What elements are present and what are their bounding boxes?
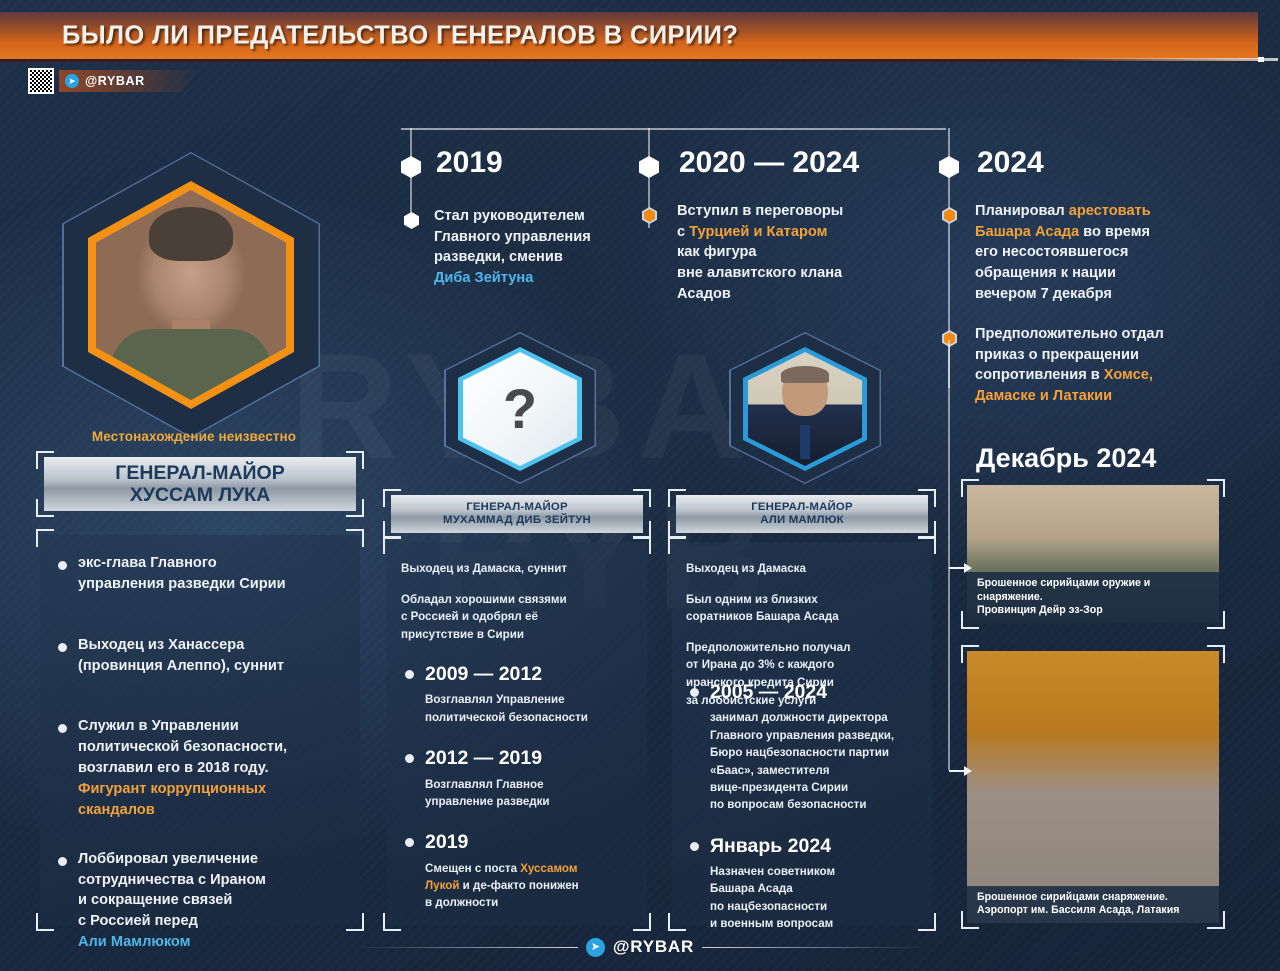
text-run: экс-глава Главного <box>78 555 217 571</box>
timeline-year: 2024 <box>977 146 1044 180</box>
text-line: Диба Зейтуна <box>434 268 664 289</box>
text-line: экс-глава Главного <box>78 553 344 574</box>
text-run: как фигура <box>677 244 757 260</box>
text-run: «Баас», заместителя <box>710 764 829 777</box>
caption-line-1: Брошенное сирийцами оружие и снаряжение. <box>977 577 1213 603</box>
nameplate-luka: ГЕНЕРАЛ-МАЙОРХУССАМ ЛУКА <box>44 457 356 511</box>
text-run: Дамаске и Латакии <box>975 388 1112 404</box>
text-run: Вступил в переговоры <box>677 203 843 219</box>
text-run: Возглавлял Управление <box>425 693 565 706</box>
text-run: с <box>677 224 689 240</box>
text-run: Смещен с поста <box>425 862 520 875</box>
text-line: с Турцией и Катаром <box>677 222 907 243</box>
caption-line-1: Брошенное сирийцами снаряжение. <box>977 891 1213 904</box>
text-line: и военным вопросам <box>710 915 924 932</box>
gallery-caption: Брошенное сирийцами оружие и снаряжение.… <box>967 572 1219 623</box>
event-item: 2019 Смещен с поста ХуссамомЛукой и де-ф… <box>397 830 639 912</box>
text-line: по вопросам безопасности <box>710 796 924 813</box>
text-run: приказ о прекращении <box>975 347 1139 363</box>
text-line: с Россией перед <box>78 911 344 932</box>
event-detail: Возглавлял Главноеуправление разведки <box>425 776 639 811</box>
text-line: и сокращение связей <box>78 890 344 911</box>
text-run: в должности <box>425 896 498 909</box>
timeline-entry-text: Стал руководителемГлавного управленияраз… <box>434 206 664 289</box>
text-run: Башара Асада <box>710 882 793 895</box>
text-line: Смещен с поста Хуссамом <box>425 860 639 877</box>
divider-left <box>356 947 578 948</box>
text-run: по вопросам безопасности <box>710 798 866 811</box>
list-item: Выходец из Ханассера(провинция Алеппо), … <box>50 635 344 677</box>
text-run: Лукой <box>425 879 459 892</box>
text-run: Был одним из близких <box>686 593 818 606</box>
text-line: Планировал арестовать <box>975 201 1205 222</box>
text-line: Башара Асада во время <box>975 222 1205 243</box>
text-line: Выходец из Дамаска <box>686 560 918 578</box>
timeline-entry-text: Вступил в переговорыс Турцией и Катаромк… <box>677 201 907 305</box>
text-line: политической безопасности, <box>78 737 344 758</box>
text-line: разведки, сменив <box>434 247 664 268</box>
text-line: Предположительно получал <box>686 639 918 657</box>
text-line: Предположительно отдал <box>975 324 1205 345</box>
person-rank-name: ГЕНЕРАЛ-МАЙОРАЛИ МАМЛЮК <box>751 501 853 527</box>
gallery-title: Декабрь 2024 <box>976 443 1156 474</box>
text-run: Диба Зейтуна <box>434 270 533 286</box>
text-line: занимал должности директора <box>710 709 924 726</box>
text-run: Башара Асада <box>975 224 1079 240</box>
footer-brand: @RYBAR <box>613 937 694 957</box>
text-line: Назначен советником <box>710 863 924 880</box>
event-detail: занимал должности директораГлавного упра… <box>710 709 924 813</box>
text-line: Дамаске и Латакии <box>975 386 1205 407</box>
text-run: Служил в Управлении <box>78 718 239 734</box>
text-line: сотрудничества с Ираном <box>78 870 344 891</box>
event-item: 2005 — 2024 занимал должности директораГ… <box>682 680 924 814</box>
text-line: (провинция Алеппо), суннит <box>78 656 344 677</box>
text-run: Турцией и Катаром <box>689 224 827 240</box>
connector-arrow-1 <box>949 766 973 776</box>
text-run: Выходец из Дамаска <box>686 562 806 575</box>
text-run: Обладал хорошими связями <box>401 593 567 606</box>
nameplate-mamluk: ГЕНЕРАЛ-МАЙОРАЛИ МАМЛЮК <box>676 495 928 533</box>
text-run: политической безопасности <box>425 711 588 724</box>
brand-label-container: ➤ @RYBAR <box>59 70 199 92</box>
text-run: Хомсе, <box>1104 367 1153 383</box>
person-rank-name: ГЕНЕРАЛ-МАЙОРХУССАМ ЛУКА <box>115 462 284 506</box>
text-line: обращения к нации <box>975 263 1205 284</box>
event-item: 2012 — 2019 Возглавлял Главноеуправление… <box>397 746 639 810</box>
qr-code-icon <box>28 68 54 94</box>
text-line: Главного управления <box>434 227 664 248</box>
text-line: Обладал хорошими связями <box>401 591 633 609</box>
text-run: Предположительно отдал <box>975 326 1164 342</box>
text-run: вне алавитского клана <box>677 265 842 281</box>
timeline-year: 2019 <box>436 146 503 180</box>
list-item: экс-глава Главногоуправления разведки Си… <box>50 553 344 595</box>
text-line: Башара Асада <box>710 880 924 897</box>
text-line: Лукой и де-факто понижен <box>425 877 639 894</box>
text-line: в должности <box>425 894 639 911</box>
text-line: Фигурант коррупционных <box>78 779 344 800</box>
text-line: Вступил в переговоры <box>677 201 907 222</box>
bullet-list: экс-глава Главногоуправления разведки Си… <box>50 553 344 953</box>
event-heading: 2005 — 2024 <box>682 680 924 704</box>
text-run: и сокращение связей <box>78 892 232 908</box>
text-line: его несостоявшегося <box>975 242 1205 263</box>
text-run: и военным вопросам <box>710 917 833 930</box>
event-list: 2009 — 2012 Возглавлял Управлениеполитич… <box>397 662 639 912</box>
timeline-entry-text: Планировал арестоватьБашара Асада во вре… <box>975 201 1205 305</box>
text-run: сотрудничества с Ираном <box>78 872 266 888</box>
text-line: с Россией и одобрял её <box>401 608 633 626</box>
nameplate-zeitun: ГЕНЕРАЛ-МАЙОРМУХАММАД ДИБ ЗЕЙТУН <box>391 495 643 533</box>
text-line: соратников Башара Асада <box>686 608 918 626</box>
event-heading: 2012 — 2019 <box>397 746 639 770</box>
telegram-icon: ➤ <box>586 938 605 957</box>
event-item: 2009 — 2012 Возглавлял Управлениеполитич… <box>397 662 639 726</box>
text-line: Выходец из Ханассера <box>78 635 344 656</box>
text-run: управления разведки Сирии <box>78 576 286 592</box>
event-detail: Возглавлял Управлениеполитической безопа… <box>425 691 639 726</box>
text-run: политической безопасности, <box>78 739 287 755</box>
caption-line-2: Провинция Дейр эз-Зор <box>977 604 1213 617</box>
text-run: Планировал <box>975 203 1069 219</box>
list-item: Служил в Управленииполитической безопасн… <box>50 716 344 820</box>
text-line: Асадов <box>677 284 907 305</box>
text-line: Выходец из Дамаска, суннит <box>401 560 633 578</box>
intro-text: Выходец из Дамаска, суннитОбладал хороши… <box>401 560 633 643</box>
text-line: Возглавлял Управление <box>425 691 639 708</box>
text-run: и де-факто понижен <box>459 879 578 892</box>
text-run: Хуссамом <box>520 862 577 875</box>
text-run: (провинция Алеппо), суннит <box>78 658 284 674</box>
text-line: Стал руководителем <box>434 206 664 227</box>
text-run: от Ирана до 3% с каждого <box>686 658 834 671</box>
text-line: «Баас», заместителя <box>710 762 924 779</box>
text-run: Стал руководителем <box>434 208 585 224</box>
text-run: Назначен советником <box>710 865 835 878</box>
text-run: Выходец из Дамаска, суннит <box>401 562 567 575</box>
text-run: вечером 7 декабря <box>975 286 1112 302</box>
intro-paragraph: Был одним из близкихсоратников Башара Ас… <box>686 591 918 626</box>
text-run: Бюро нацбезопасности партии <box>710 746 889 759</box>
gallery-rail <box>948 340 950 770</box>
brand-name: @RYBAR <box>85 74 145 88</box>
text-run: скандалов <box>78 802 155 818</box>
text-run: Возглавлял Главное <box>425 778 544 791</box>
text-run: разведки, сменив <box>434 249 563 265</box>
timeline-rail <box>401 128 946 130</box>
text-line: возглавил его в 2018 году. <box>78 758 344 779</box>
text-line: Бюро нацбезопасности партии <box>710 744 924 761</box>
text-line: приказ о прекращении <box>975 345 1205 366</box>
event-item: Январь 2024 Назначен советникомБашара Ас… <box>682 834 924 933</box>
event-list: 2005 — 2024 занимал должности директораГ… <box>682 680 924 933</box>
text-run: по нацбезопасности <box>710 900 827 913</box>
text-run: управление разведки <box>425 795 550 808</box>
text-line: скандалов <box>78 800 344 821</box>
text-run: с Россией и одобрял её <box>401 610 538 623</box>
text-run: Асадов <box>677 286 731 302</box>
event-heading: 2019 <box>397 830 639 854</box>
text-run: Фигурант коррупционных <box>78 781 266 797</box>
text-run: занимал должности директора <box>710 711 888 724</box>
portrait-hussam-luka <box>62 152 320 438</box>
text-line: Главного управления разведки, <box>710 727 924 744</box>
text-line: управление разведки <box>425 793 639 810</box>
text-run: возглавил его в 2018 году. <box>78 760 269 776</box>
portrait-ali-mamluk <box>729 332 881 484</box>
text-line: Возглавлял Главное <box>425 776 639 793</box>
text-line: по нацбезопасности <box>710 898 924 915</box>
gallery-caption: Брошенное сирийцами снаряжение. Аэропорт… <box>967 886 1219 923</box>
connector-arrow-0 <box>949 563 973 573</box>
text-run: Выходец из Ханассера <box>78 637 244 653</box>
gallery-image-0[interactable]: Брошенное сирийцами оружие и снаряжение.… <box>967 485 1219 623</box>
telegram-icon: ➤ <box>65 74 79 88</box>
event-heading: Январь 2024 <box>682 834 924 858</box>
text-line: управления разведки Сирии <box>78 574 344 595</box>
footer: ➤ @RYBAR <box>0 937 1280 957</box>
header-rule <box>1038 58 1278 61</box>
intro-paragraph: Выходец из Дамаска <box>686 560 918 578</box>
text-run: во время <box>1079 224 1150 240</box>
caption-line-2: Аэропорт им. Бассиля Асада, Латакия <box>977 904 1213 917</box>
text-line: политической безопасности <box>425 709 639 726</box>
event-heading: 2009 — 2012 <box>397 662 639 686</box>
event-detail: Назначен советникомБашара Асадапо нацбез… <box>710 863 924 933</box>
text-line: от Ирана до 3% с каждого <box>686 656 918 674</box>
text-run: присутствие в Сирии <box>401 628 524 641</box>
text-line: сопротивления в Хомсе, <box>975 365 1205 386</box>
text-line: Был одним из близких <box>686 591 918 609</box>
timeline-year: 2020 — 2024 <box>679 146 859 180</box>
timeline-entry-text: Предположительно отдалприказ о прекращен… <box>975 324 1205 407</box>
text-run: Главного управления разведки, <box>710 729 894 742</box>
intro-paragraph: Выходец из Дамаска, суннит <box>401 560 633 578</box>
text-line: вечером 7 декабря <box>975 284 1205 305</box>
brand-bar: ➤ @RYBAR <box>28 68 199 94</box>
person-rank-name: ГЕНЕРАЛ-МАЙОРМУХАММАД ДИБ ЗЕЙТУН <box>443 501 591 527</box>
page-title: БЫЛО ЛИ ПРЕДАТЕЛЬСТВО ГЕНЕРАЛОВ В СИРИИ? <box>62 21 738 50</box>
text-run: его несостоявшегося <box>975 244 1128 260</box>
text-run: Предположительно получал <box>686 641 850 654</box>
divider-right <box>702 947 924 948</box>
text-line: вне алавитского клана <box>677 263 907 284</box>
text-run: обращения к нации <box>975 265 1116 281</box>
text-run: Лоббировал увеличение <box>78 851 258 867</box>
status-badge-location-unknown: Местонахождение неизвестно <box>70 429 318 444</box>
text-line: вице-президента Сирии <box>710 779 924 796</box>
header-banner: БЫЛО ЛИ ПРЕДАТЕЛЬСТВО ГЕНЕРАЛОВ В СИРИИ? <box>0 12 1258 62</box>
text-line: присутствие в Сирии <box>401 626 633 644</box>
text-line: Служил в Управлении <box>78 716 344 737</box>
text-run: с Россией перед <box>78 913 198 929</box>
text-line: как фигура <box>677 242 907 263</box>
gallery-image-1[interactable]: Брошенное сирийцами снаряжение. Аэропорт… <box>967 651 1219 923</box>
intro-paragraph: Обладал хорошими связямис Россией и одоб… <box>401 591 633 644</box>
text-run: арестовать <box>1069 203 1151 219</box>
text-run: сопротивления в <box>975 367 1104 383</box>
portrait-unknown-placeholder: ? <box>444 332 596 484</box>
text-line: Лоббировал увеличение <box>78 849 344 870</box>
event-detail: Смещен с поста ХуссамомЛукой и де-факто … <box>425 860 639 912</box>
text-run: соратников Башара Асада <box>686 610 839 623</box>
text-run: Главного управления <box>434 229 591 245</box>
text-run: вице-президента Сирии <box>710 781 848 794</box>
